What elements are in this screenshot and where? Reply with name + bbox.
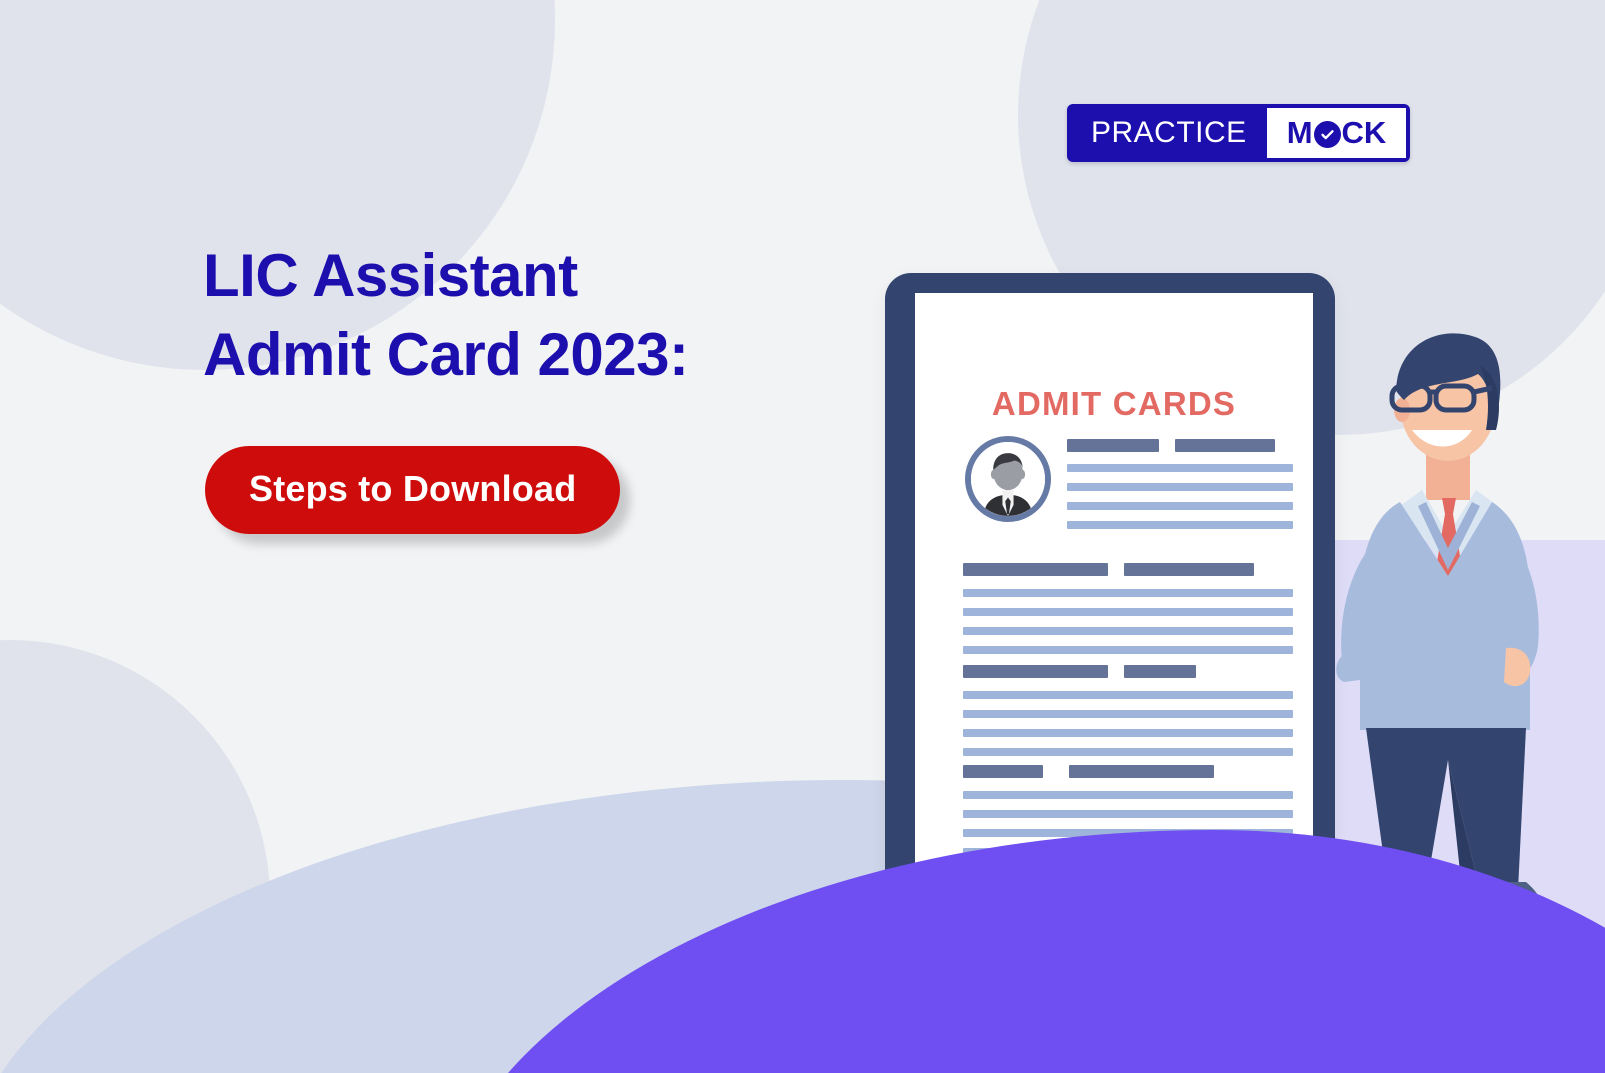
card-section-blocks — [963, 563, 1293, 576]
card-section — [963, 665, 1293, 767]
text-line — [963, 627, 1293, 635]
headline-line-2: Admit Card 2023: — [203, 315, 843, 394]
field-label-block — [1175, 439, 1275, 452]
page-title: LIC Assistant Admit Card 2023: — [203, 236, 843, 394]
logo-mock-m: M — [1287, 115, 1313, 151]
field-label-block — [1067, 439, 1159, 452]
text-line — [963, 646, 1293, 654]
text-line — [1067, 464, 1293, 472]
logo-mock-ck: CK — [1342, 115, 1387, 151]
text-line — [963, 810, 1293, 818]
avatar — [965, 436, 1051, 522]
field-label-block — [1069, 765, 1214, 778]
field-label-block — [1124, 563, 1254, 576]
card-section-blocks — [963, 765, 1293, 778]
text-line — [963, 608, 1293, 616]
tablet-screen: ADMIT CARDS — [915, 293, 1313, 913]
field-label-block — [963, 563, 1108, 576]
field-label-block — [963, 765, 1043, 778]
card-section-blocks — [963, 665, 1293, 678]
text-line — [963, 791, 1293, 799]
card-header-fields — [1067, 439, 1293, 540]
cta-container: Steps to Download — [205, 446, 620, 534]
text-line — [963, 748, 1293, 756]
text-line — [1067, 502, 1293, 510]
illustration-man-with-glasses — [1330, 330, 1605, 930]
admit-card-title: ADMIT CARDS — [915, 385, 1313, 423]
logo-practice-text: PRACTICE — [1067, 104, 1267, 162]
text-line — [1067, 483, 1293, 491]
banner-canvas: ADMIT CARDS — [0, 0, 1605, 1073]
check-in-circle-icon — [1314, 121, 1341, 148]
card-header-blocks — [1067, 439, 1293, 452]
steps-to-download-button[interactable]: Steps to Download — [205, 446, 620, 534]
text-line — [963, 691, 1293, 699]
logo-mock-text: M CK — [1267, 108, 1407, 158]
brand-logo[interactable]: PRACTICE M CK — [1067, 104, 1410, 162]
text-line — [963, 589, 1293, 597]
text-line — [963, 710, 1293, 718]
field-label-block — [1124, 665, 1196, 678]
text-line — [1067, 521, 1293, 529]
headline-line-1: LIC Assistant — [203, 236, 843, 315]
card-section — [963, 563, 1293, 665]
tablet-device: ADMIT CARDS — [885, 273, 1335, 913]
text-line — [963, 729, 1293, 737]
field-label-block — [963, 665, 1108, 678]
